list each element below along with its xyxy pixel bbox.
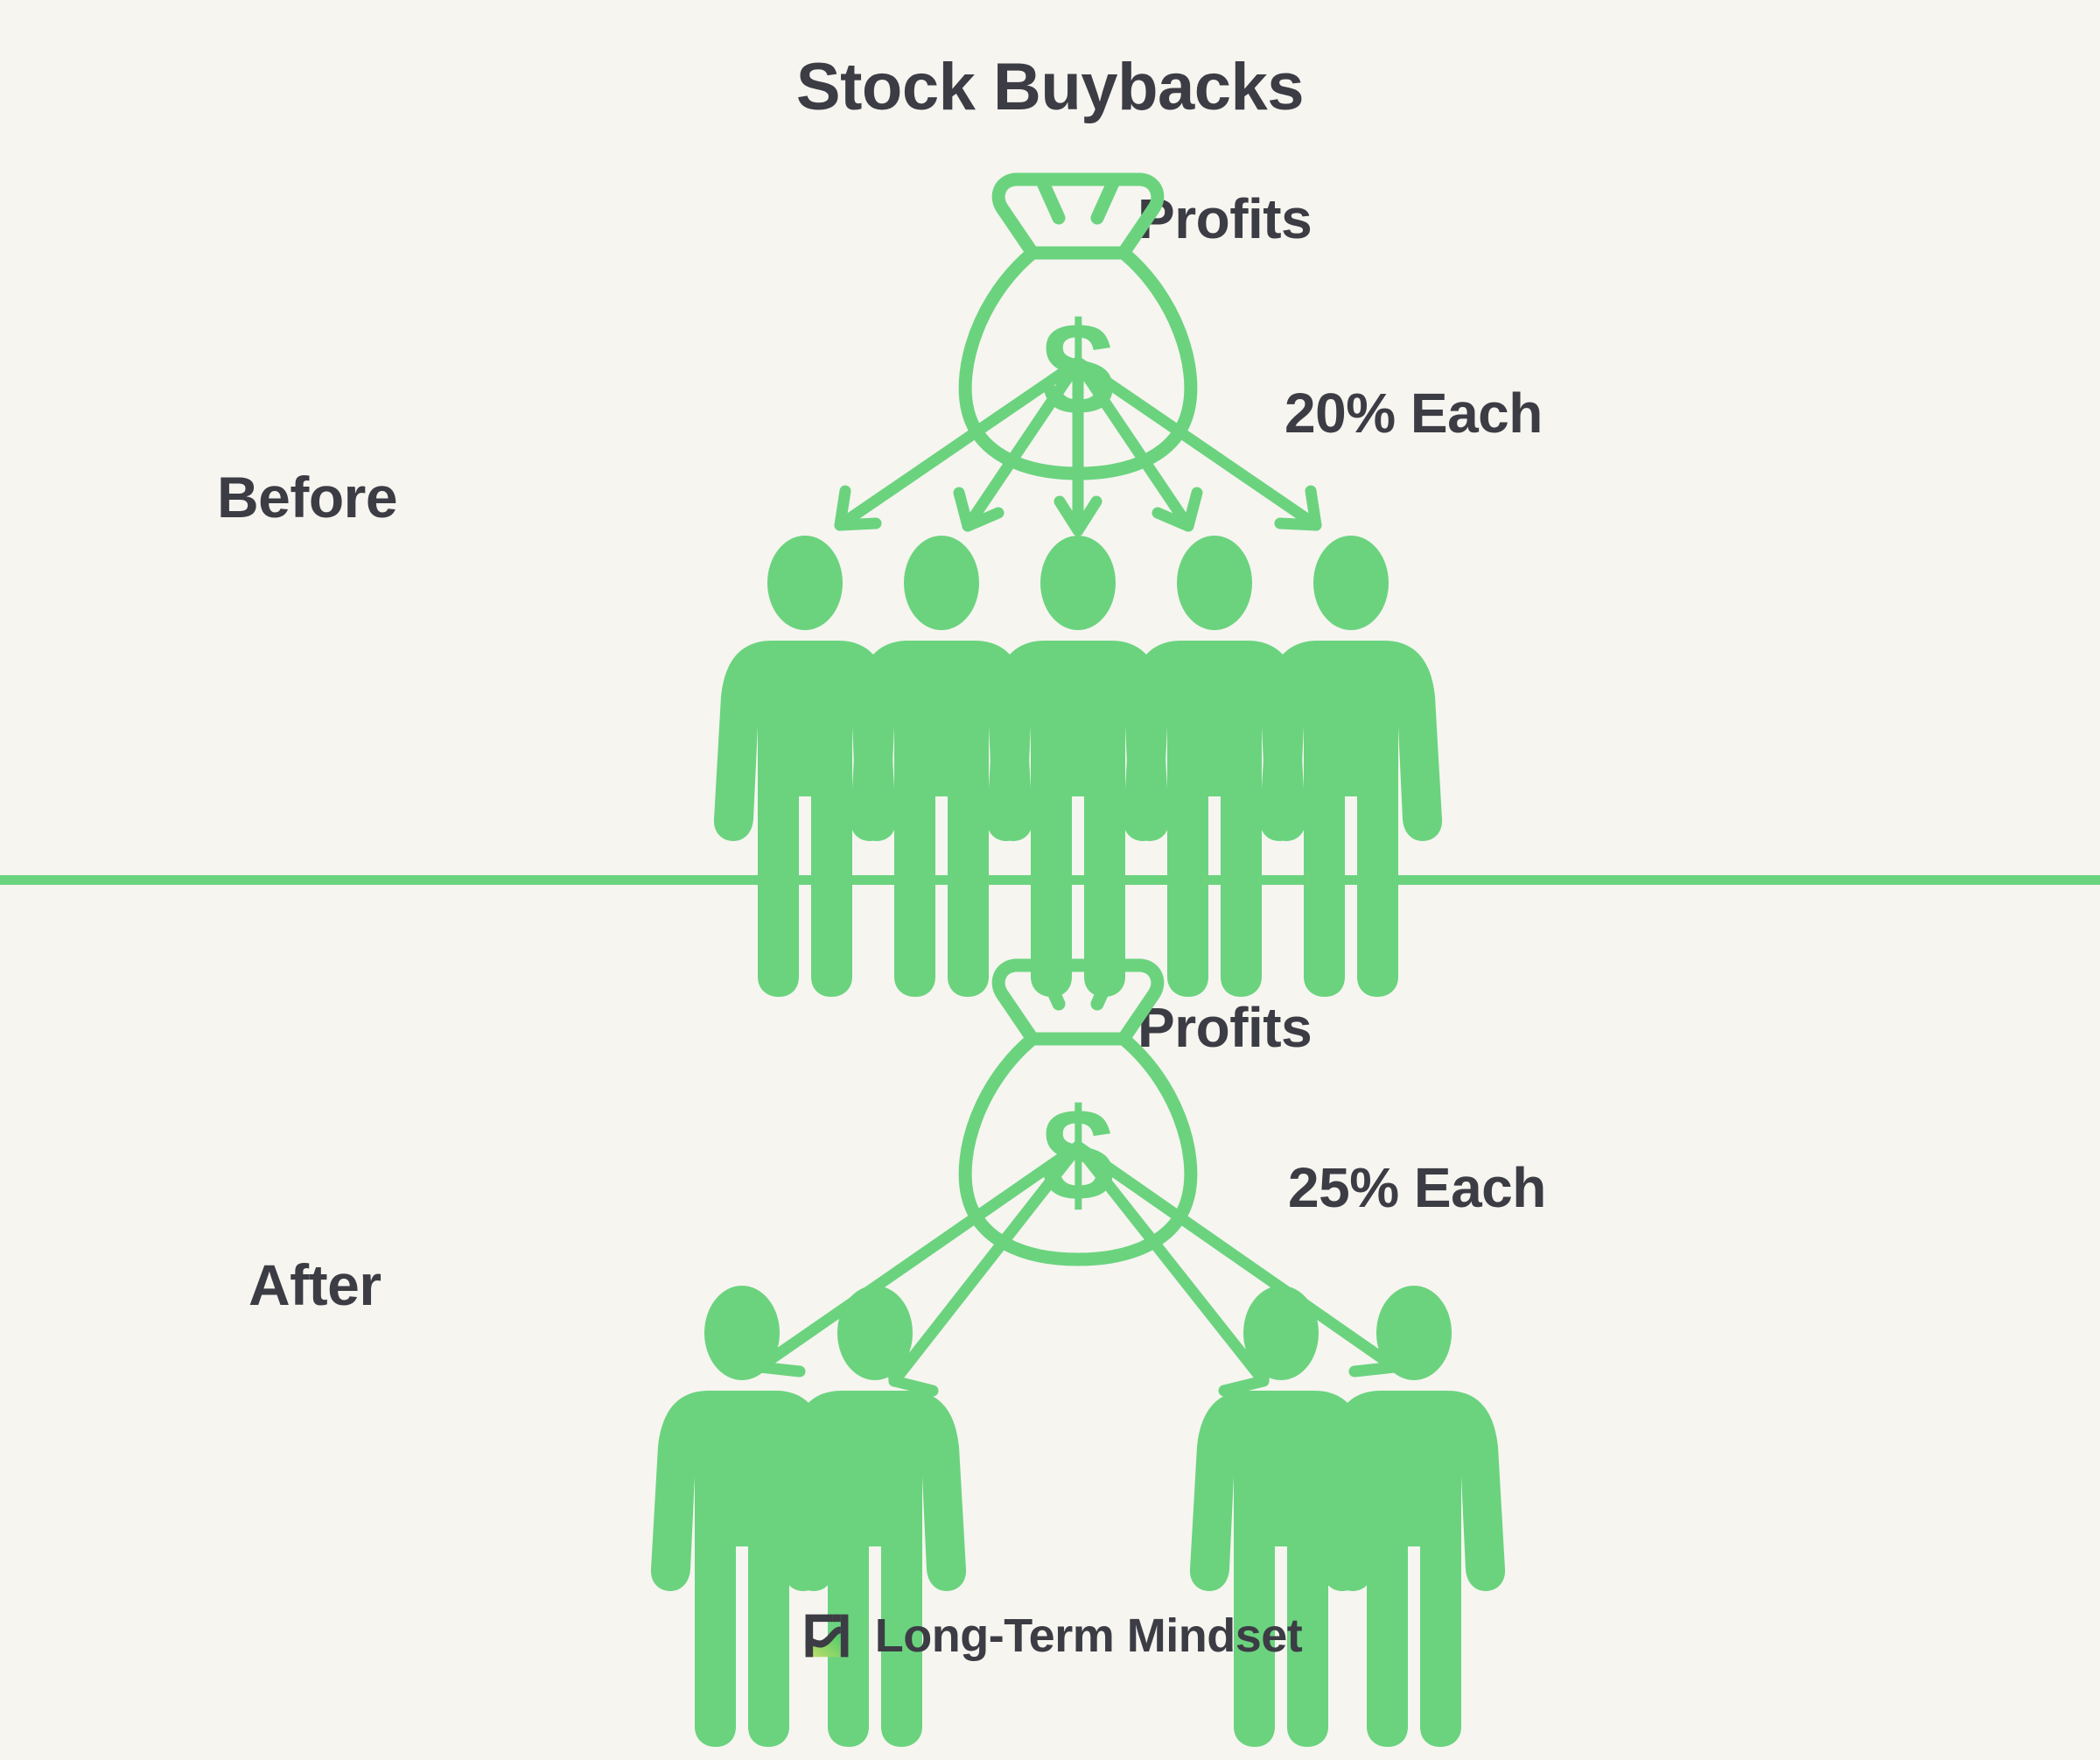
profits-label-after: Profits [1137,999,1312,1055]
chart-logo-icon [798,1607,856,1665]
share-percent-after: 25% Each [1288,1160,1546,1216]
infographic-canvas: Stock Buybacks Profits 20% Each Before P… [0,0,2100,1760]
brand-name: Long-Term Mindset [875,1612,1302,1659]
people-group-before [714,536,1442,997]
person-icon [1123,536,1305,997]
page-title: Stock Buybacks [0,54,2100,121]
person-icon [714,536,896,997]
person-icon [850,536,1032,997]
person-icon [1260,536,1442,997]
person-icon [784,1286,966,1747]
section-label-after: After [248,1256,381,1314]
person-icon [1190,1286,1372,1747]
share-percent-before: 20% Each [1284,385,1543,441]
people-group-after [651,1286,1505,1747]
section-divider [0,875,2100,885]
person-icon [987,536,1169,997]
person-icon [1323,1286,1505,1747]
section-label-before: Before [217,468,397,526]
arrow-group-before [840,362,1316,530]
person-icon [651,1286,833,1747]
profits-label-before: Profits [1137,191,1312,247]
footer-brand: Long-Term Mindset [0,1607,2100,1665]
